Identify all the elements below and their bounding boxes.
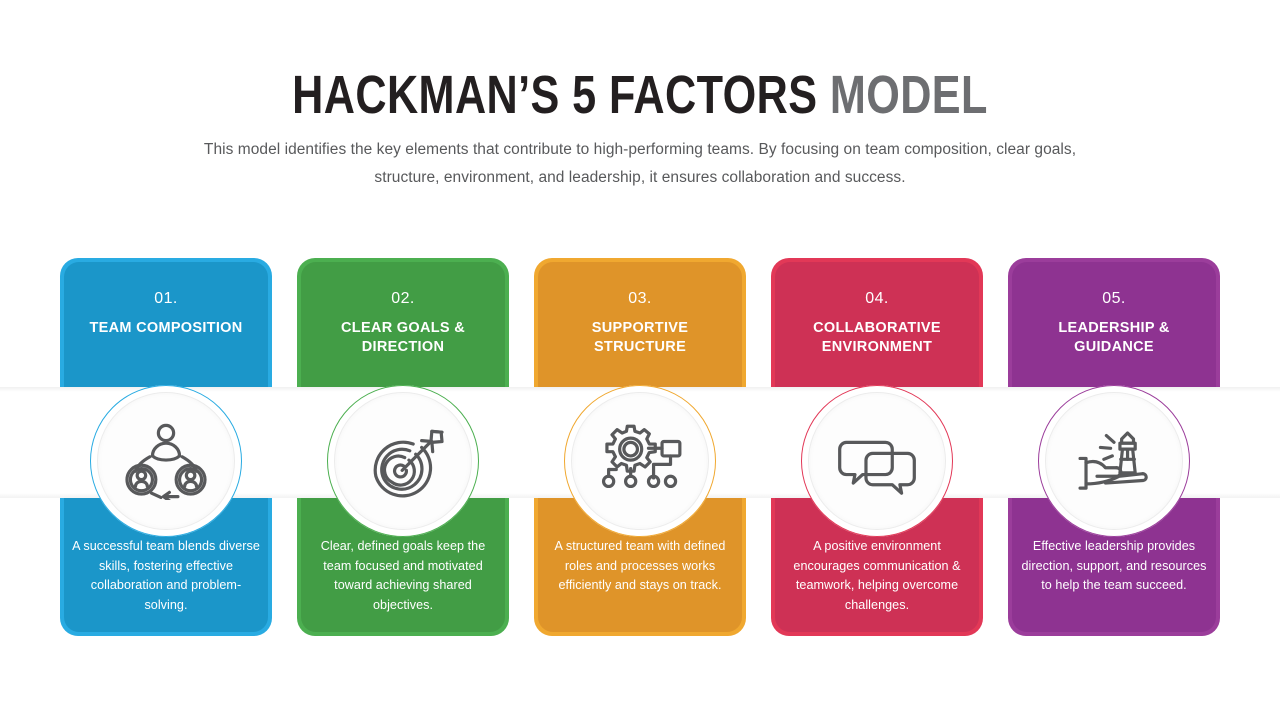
factor-card-3-title: SUPPORTIVE STRUCTURE [538,319,742,356]
factor-card-5-title: LEADERSHIP & GUIDANCE [1012,319,1216,356]
header: HACKMAN’S 5 FACTORS MODEL This model ide… [0,66,1280,192]
speech-bubbles-icon [834,422,920,500]
subtitle: This model identifies the key elements t… [170,136,1110,192]
factor-card-3-description: A structured team with defined roles and… [546,537,734,596]
factor-icon-badge-3 [564,385,716,537]
factor-card-1-description: A successful team blends diverse skills,… [72,537,260,615]
page-title: HACKMAN’S 5 FACTORS MODEL [128,66,1152,124]
target-arrow-icon [360,422,446,500]
factor-card-3-number: 03. [628,291,651,307]
factor-icon-badge-5 [1038,385,1190,537]
title-secondary: MODEL [830,65,988,125]
factor-card-1-number: 01. [154,291,177,307]
factor-card-2-description: Clear, defined goals keep the team focus… [309,537,497,615]
hand-lighthouse-icon [1071,422,1157,500]
team-network-icon [123,422,209,500]
factor-card-5-description: Effective leadership provides direction,… [1020,537,1208,596]
factor-card-1-title: TEAM COMPOSITION [81,319,250,338]
factor-card-4-description: A positive environment encourages commun… [783,537,971,615]
factor-icon-badge-1 [90,385,242,537]
factor-icon-badge-4 [801,385,953,537]
factor-icon-badge-2 [327,385,479,537]
title-primary: HACKMAN’S 5 FACTORS [292,65,817,125]
factor-card-4-title: COLLABORATIVE ENVIRONMENT [775,319,979,356]
factor-card-5-number: 05. [1102,291,1125,307]
factor-card-2-number: 02. [391,291,414,307]
factor-card-2-title: CLEAR GOALS & DIRECTION [301,319,505,356]
factor-card-4-number: 04. [865,291,888,307]
gear-process-icon [597,422,683,500]
slide-canvas: HACKMAN’S 5 FACTORS MODEL This model ide… [0,0,1280,720]
